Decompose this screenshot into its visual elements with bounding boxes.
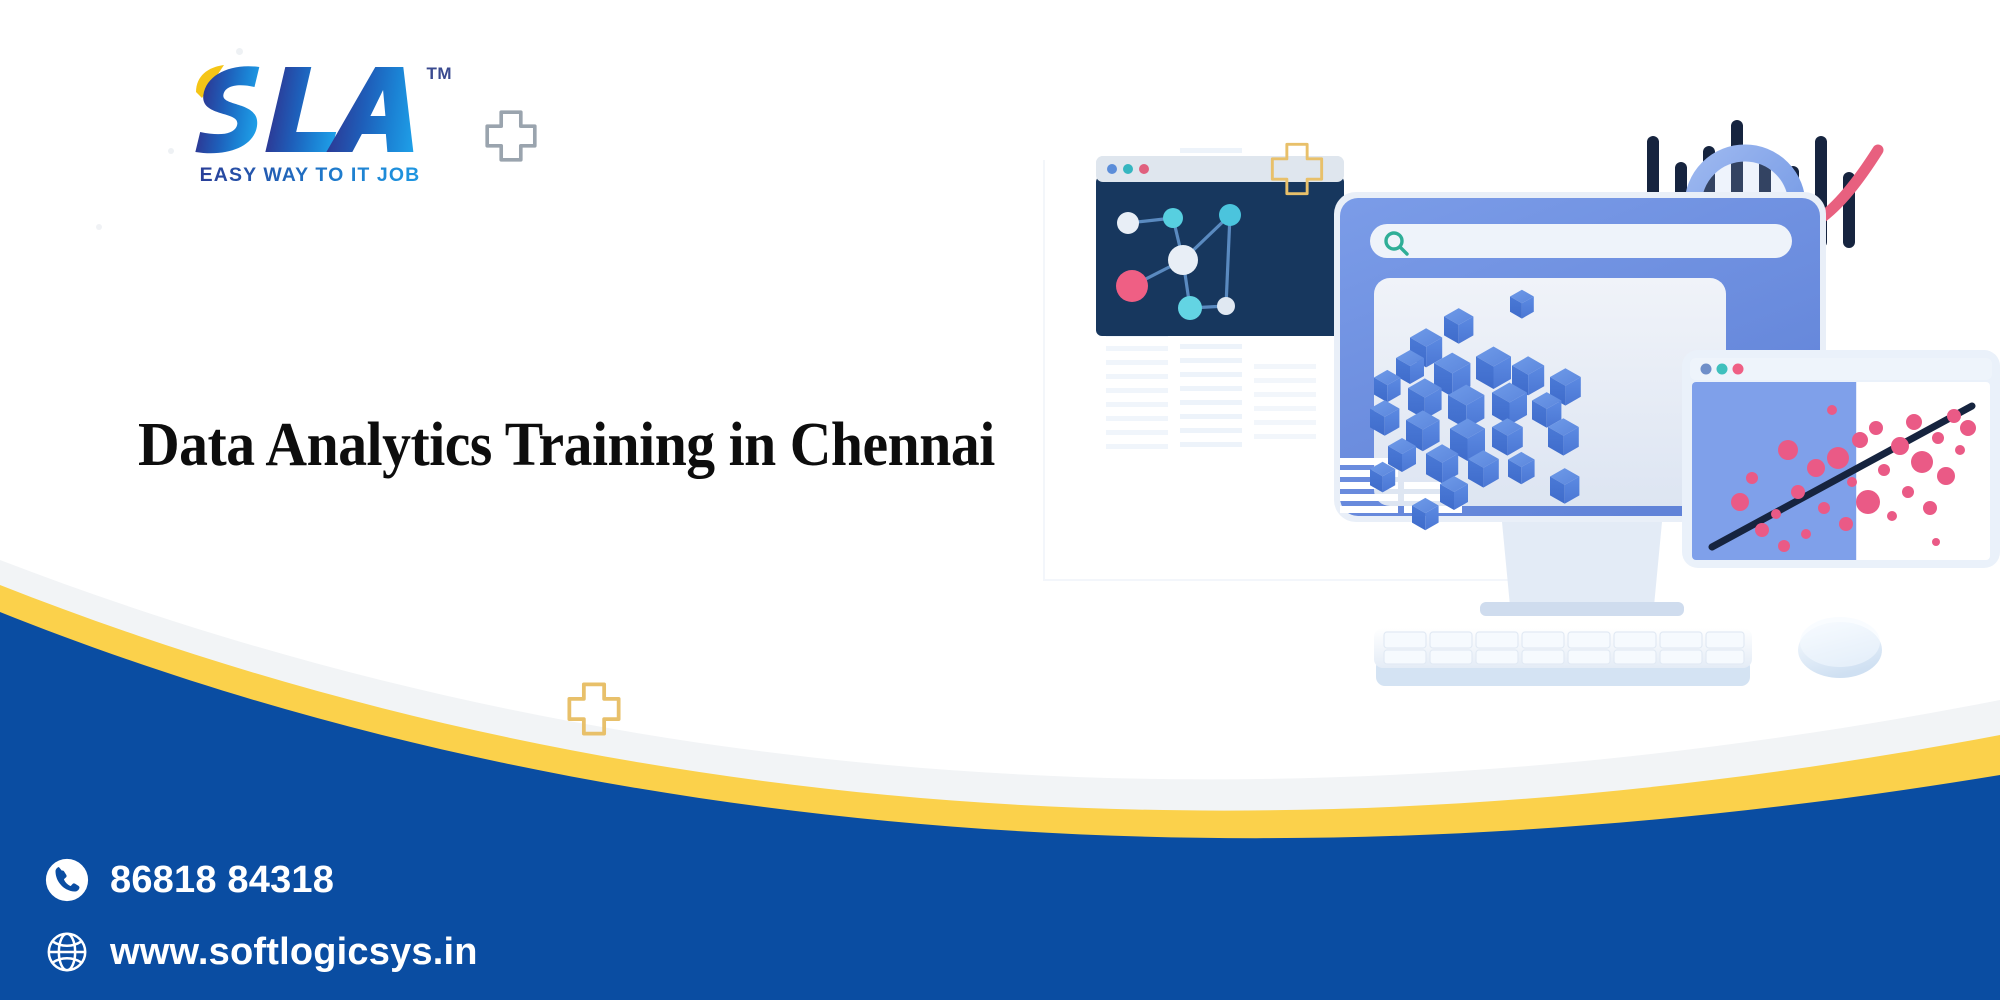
speck-3 [96,224,102,230]
logo-tagline: EASY WAY TO IT JOB [190,166,430,186]
speck-2 [168,148,174,154]
scatter-plot-window[interactable] [1682,350,2000,568]
scatter-dot-blue [1701,364,1712,375]
logo-mark: TM [190,62,430,157]
scatter-dot-teal [1717,364,1728,375]
logo-letter-l [265,67,345,152]
logo-trademark: TM [426,64,452,84]
banner-root: TM EASY WAY TO IT JOB Data Analytics Tra… [0,0,2000,1000]
keyboard[interactable] [1374,628,1752,686]
cross-top-left-icon [483,108,539,164]
monitor-stand [1502,522,1662,606]
phone-number: 86818 84318 [110,861,334,899]
illustration-svg [1040,110,2000,760]
page-title: Data Analytics Training in Chennai [138,410,995,481]
phone-icon [44,857,90,903]
brand-logo[interactable]: TM EASY WAY TO IT JOB [190,62,430,192]
scatter-dot-pink [1733,364,1744,375]
window-dot-teal [1123,164,1133,174]
monitor-base [1480,602,1684,616]
contact-phone-row[interactable]: 86818 84318 [44,852,478,908]
speck-1 [236,48,243,55]
website-url: www.softlogicsys.in [110,933,478,971]
data-analytics-illustration [1040,110,2000,760]
search-bar[interactable] [1370,224,1792,258]
contact-block: 86818 84318 www.softlogicsys.in [44,852,478,980]
globe-icon [44,929,90,975]
contact-website-row[interactable]: www.softlogicsys.in [44,924,478,980]
logo-letter-a [326,67,425,152]
window-dot-pink [1139,164,1149,174]
window-dot-blue [1107,164,1117,174]
logo-letters-svg [190,62,430,157]
cross-bottom-left-icon [565,680,623,738]
